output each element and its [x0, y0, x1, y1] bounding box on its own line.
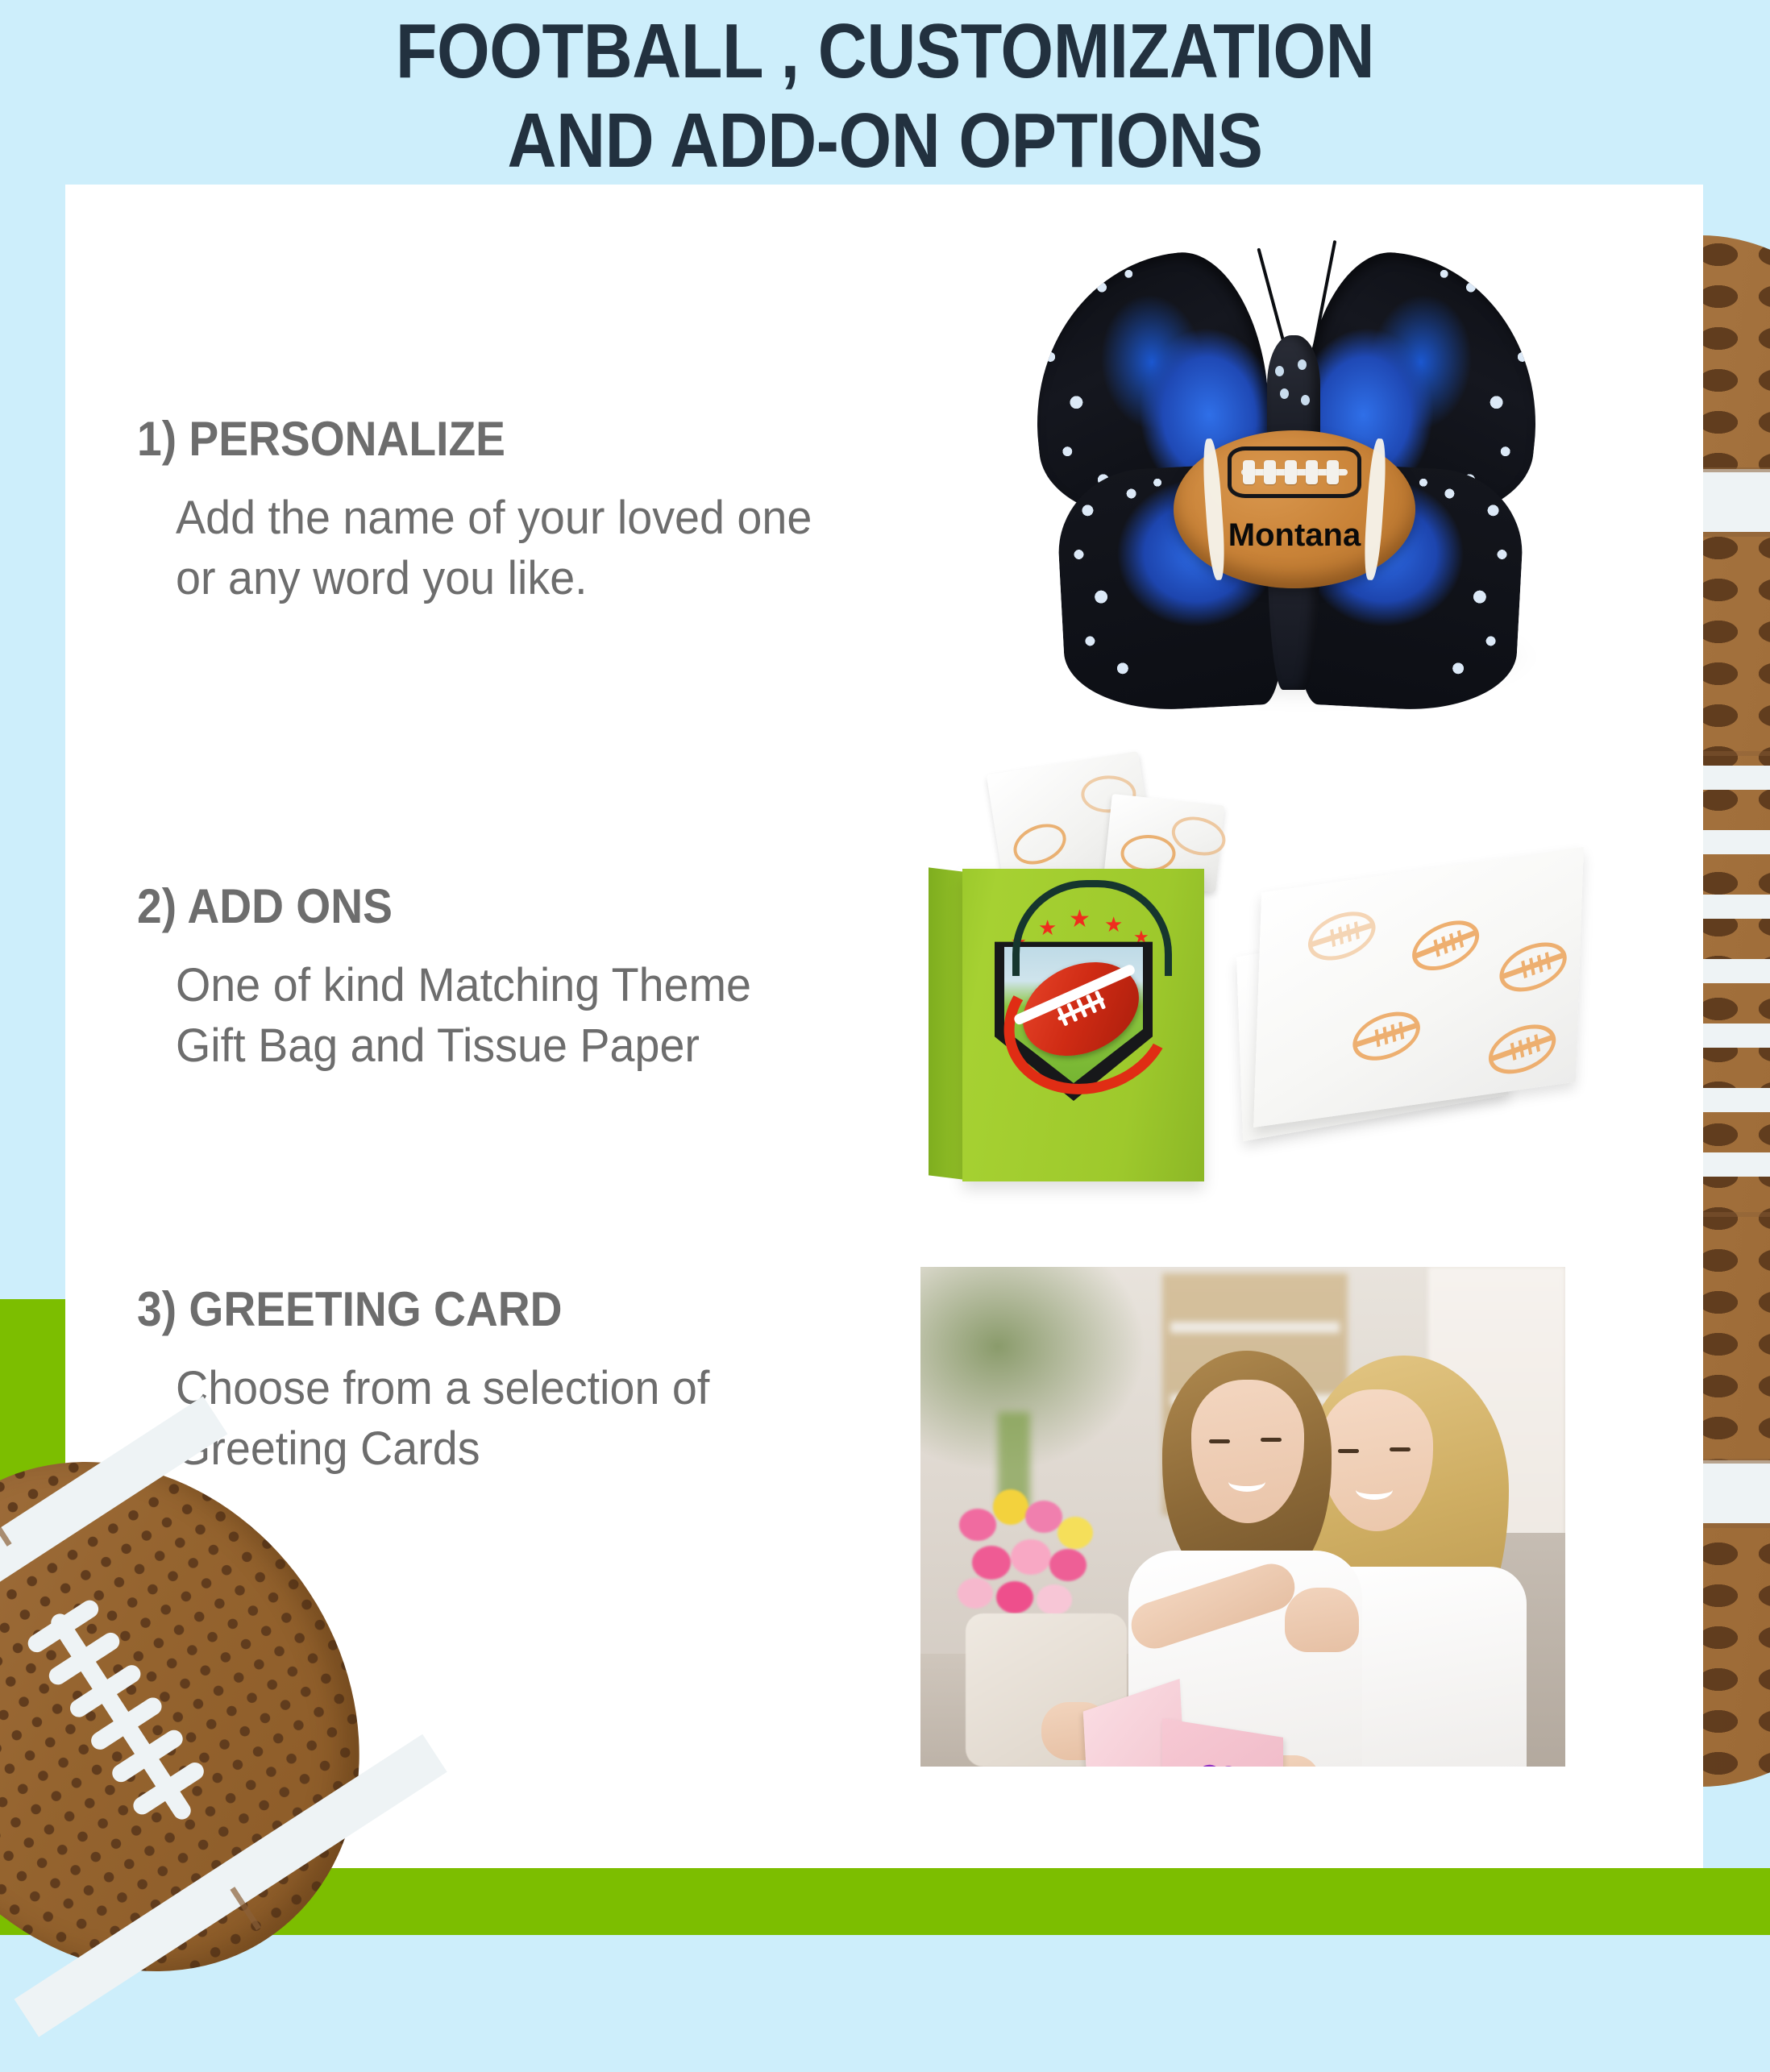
- butterfly-football-plush-image: Montana: [983, 234, 1596, 749]
- step-2-body: One of kind Matching Theme Gift Bag and …: [176, 955, 874, 1077]
- step-3-heading: 3) GREETING CARD: [137, 1281, 841, 1337]
- step-add-ons: 2) ADD ONS One of kind Matching Theme Gi…: [137, 878, 903, 1077]
- tissue-paper-image: [1233, 838, 1620, 1161]
- gift-bag-side-panel: [929, 867, 966, 1180]
- butterfly-antenna-left: [1257, 247, 1286, 347]
- plush-football-patch: Montana: [1174, 430, 1415, 588]
- photo-tulip-bouquet: [951, 1468, 1120, 1630]
- football-stripe-right: [1362, 438, 1388, 580]
- step-1-heading: 1) PERSONALIZE: [137, 411, 841, 467]
- step-personalize: 1) PERSONALIZE Add the name of your love…: [137, 411, 903, 609]
- step-greeting-card: 3) GREETING CARD Choose from a selection…: [137, 1281, 903, 1480]
- step-3-body: Choose from a selection of Greeting Card…: [176, 1358, 874, 1480]
- step-2-heading: 2) ADD ONS: [137, 878, 841, 934]
- football-stripe-left: [1201, 438, 1227, 580]
- greeting-card-photo: [920, 1267, 1565, 1767]
- step-1-body: Add the name of your loved one or any wo…: [176, 488, 874, 609]
- gift-bag-image: ★ ★ ★ ★ ★: [925, 749, 1272, 1185]
- tissue-sheet-front: [1253, 847, 1584, 1127]
- football-lace-panel: [1228, 446, 1361, 498]
- personalized-name-text: Montana: [1174, 517, 1415, 554]
- photo-woman-hand: [1285, 1588, 1359, 1652]
